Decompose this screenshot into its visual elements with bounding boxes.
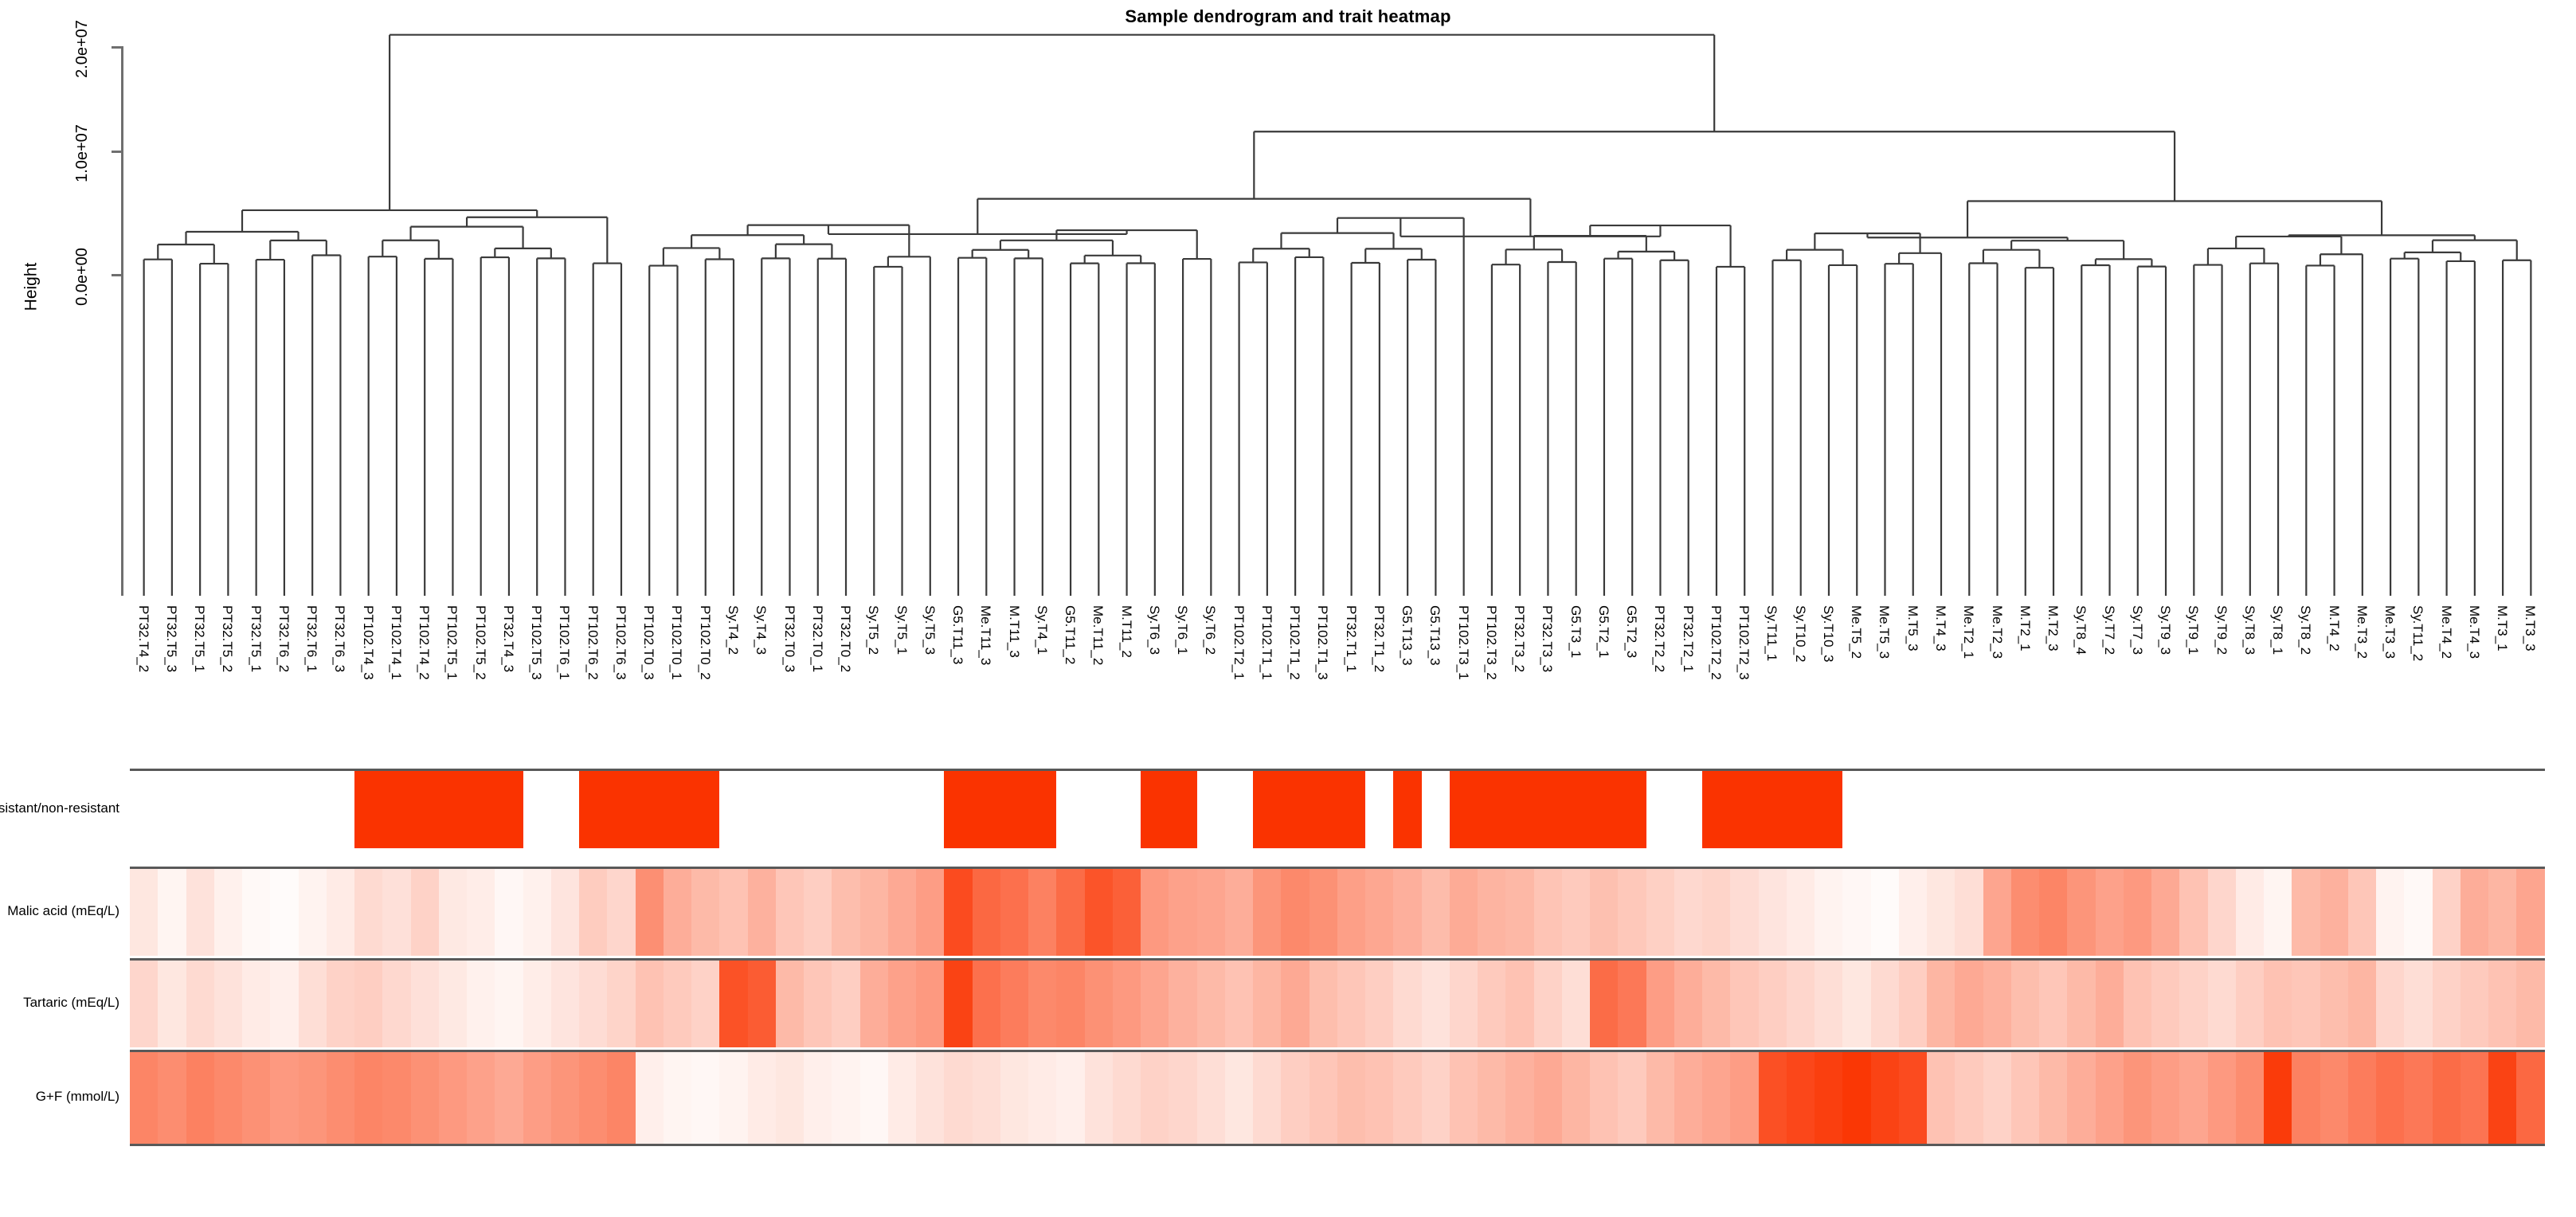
heatmap-cell — [1281, 869, 1309, 956]
heatmap-cell — [354, 771, 382, 848]
sample-label-text: Me.T2_3 — [1991, 605, 2002, 765]
heatmap-cell — [1141, 771, 1169, 848]
heatmap-cell — [1478, 771, 1505, 848]
heatmap-cell — [467, 1052, 495, 1144]
sample-label: Sy.T6_3 — [1149, 605, 1160, 765]
heatmap-cell — [327, 1052, 354, 1144]
sample-label-text: PT102.T2_1 — [1233, 605, 1244, 765]
sample-label-text: PT102.T3_2 — [1486, 605, 1497, 765]
heatmap-cell — [2376, 771, 2404, 848]
heatmap-cell — [2236, 961, 2264, 1047]
heatmap-cell — [2433, 869, 2461, 956]
heatmap-cell — [804, 961, 832, 1047]
sample-label-text: M.T11_2 — [1121, 605, 1132, 765]
sample-label: PT102.T2_1 — [1233, 605, 1244, 765]
heatmap-cell — [467, 961, 495, 1047]
heatmap-cell — [916, 869, 944, 956]
heatmap-cell — [1478, 961, 1505, 1047]
sample-label: Sy.T11_1 — [1766, 605, 1777, 765]
heatmap-cell — [804, 1052, 832, 1144]
heatmap-cell — [1141, 1052, 1169, 1144]
heatmap-cell — [382, 771, 410, 848]
heatmap-cell — [664, 869, 691, 956]
heatmap-cell — [2208, 771, 2236, 848]
sample-label-text: PT32.T5_1 — [250, 605, 261, 765]
heatmap-cell — [1815, 961, 1842, 1047]
heatmap-cell — [1983, 1052, 2011, 1144]
heatmap-cell — [1871, 1052, 1899, 1144]
sample-label: G5.T2_3 — [1626, 605, 1637, 765]
heatmap-cell — [2292, 1052, 2320, 1144]
heatmap-cell — [944, 961, 972, 1047]
heatmap-cell — [2096, 771, 2124, 848]
sample-label-text: Sy.T9_2 — [2216, 605, 2227, 765]
sample-label: PT32.T0_3 — [784, 605, 795, 765]
heatmap-cell — [1759, 869, 1787, 956]
sample-label: PT102.T4_3 — [362, 605, 374, 765]
heatmap-cell — [1141, 869, 1169, 956]
heatmap-cell — [973, 1052, 1000, 1144]
heatmap-cell — [1028, 961, 1056, 1047]
heatmap-cell — [130, 1052, 158, 1144]
sample-label-text: G5.T3_1 — [1570, 605, 1581, 765]
heatmap-cell — [1674, 771, 1702, 848]
heatmap-cell — [1927, 961, 1955, 1047]
heatmap-cell — [1590, 869, 1618, 956]
heatmap-cell — [1225, 771, 1253, 848]
sample-label: PT102.T3_2 — [1486, 605, 1497, 765]
sample-label-text: G5.T11_2 — [1064, 605, 1075, 765]
sample-label-text: M.T2_1 — [2019, 605, 2030, 765]
sample-label: M.T5_3 — [1907, 605, 1918, 765]
heatmap-cell — [1899, 771, 1927, 848]
sample-label: Me.T11_3 — [980, 605, 991, 765]
heatmap-cell — [270, 961, 298, 1047]
sample-label: PT32.T0_1 — [812, 605, 823, 765]
sample-label-text: Sy.T11_1 — [1766, 605, 1777, 765]
heatmap-cell — [1253, 869, 1281, 956]
heatmap-cell — [1927, 771, 1955, 848]
sample-label-text: Me.T4_3 — [2468, 605, 2480, 765]
sample-label: G5.T11_2 — [1064, 605, 1075, 765]
sample-label-text: Sy.T6_3 — [1149, 605, 1160, 765]
heatmap-cell — [2264, 869, 2292, 956]
sample-label-text: Sy.T4_2 — [727, 605, 738, 765]
heatmap-cell — [1955, 771, 1983, 848]
heatmap-cell — [691, 961, 719, 1047]
heatmap-cell — [579, 869, 607, 956]
heatmap-cell — [1113, 869, 1141, 956]
heatmap-cell — [2151, 869, 2179, 956]
heatmap-cell — [944, 869, 972, 956]
heatmap-cell — [242, 771, 270, 848]
heatmap-cell — [495, 771, 523, 848]
sample-label-text: M.T4_2 — [2328, 605, 2339, 765]
sample-label: PT32.T5_3 — [166, 605, 177, 765]
heatmap-cell — [691, 771, 719, 848]
heatmap-cell — [1365, 1052, 1393, 1144]
heatmap-cell — [1730, 771, 1758, 848]
heatmap-cell — [1674, 961, 1702, 1047]
heatmap-cell — [2039, 1052, 2067, 1144]
sample-label-text: PT32.T3_2 — [1513, 605, 1525, 765]
heatmap-cell — [1505, 771, 1533, 848]
sample-label: Sy.T6_2 — [1204, 605, 1216, 765]
heatmap-cell — [1197, 771, 1225, 848]
heatmap-cell — [1450, 771, 1478, 848]
trait-row-label: Malic acid (mEq/L) — [0, 867, 127, 956]
sample-label-text: Me.T11_2 — [1092, 605, 1103, 765]
heatmap-cell — [523, 771, 551, 848]
sample-label: PT102.T0_2 — [699, 605, 711, 765]
sample-label-text: PT32.T2_2 — [1654, 605, 1665, 765]
sample-label: PT32.T1_1 — [1345, 605, 1357, 765]
heatmap-cell — [2320, 869, 2348, 956]
heatmap-cell — [664, 961, 691, 1047]
sample-label-text: Me.T5_3 — [1878, 605, 1889, 765]
heatmap-cell — [2236, 771, 2264, 848]
heatmap-cell — [467, 869, 495, 956]
heatmap-cell — [1085, 771, 1113, 848]
sample-label-text: G5.T11_3 — [952, 605, 963, 765]
heatmap-cell — [411, 869, 439, 956]
heatmap-cell — [327, 961, 354, 1047]
heatmap-cell — [1450, 869, 1478, 956]
heatmap-cell — [664, 771, 691, 848]
heatmap-cell — [776, 961, 804, 1047]
sample-label-text: M.T4_3 — [1935, 605, 1946, 765]
heatmap-cell — [2011, 961, 2039, 1047]
sample-label: G5.T3_1 — [1570, 605, 1581, 765]
heatmap-cell — [214, 961, 242, 1047]
sample-label: Sy.T11_2 — [2412, 605, 2423, 765]
sample-label: PT32.T4_2 — [138, 605, 149, 765]
heatmap-cell — [1337, 961, 1365, 1047]
sample-label: PT102.T5_2 — [475, 605, 486, 765]
heatmap-cell — [1422, 1052, 1450, 1144]
heatmap-cell — [1730, 1052, 1758, 1144]
sample-label: PT102.T0_1 — [671, 605, 682, 765]
heatmap-cell — [1534, 869, 1562, 956]
heatmap-cell — [2488, 771, 2516, 848]
sample-label: Sy.T8_3 — [2244, 605, 2255, 765]
heatmap-cell — [2433, 1052, 2461, 1144]
heatmap-cell — [1169, 869, 1196, 956]
sample-label-text: PT102.T0_3 — [643, 605, 654, 765]
heatmap-cell — [1646, 869, 1674, 956]
sample-label-text: PT102.T4_2 — [418, 605, 429, 765]
heatmap-cell — [2488, 869, 2516, 956]
heatmap-cell — [2461, 869, 2488, 956]
heatmap-cell — [2264, 771, 2292, 848]
heatmap-cell — [1759, 771, 1787, 848]
heatmap-cell — [299, 961, 327, 1047]
sample-label-text: PT32.T4_2 — [138, 605, 149, 765]
sample-label-text: PT32.T6_2 — [278, 605, 289, 765]
heatmap-cell — [916, 771, 944, 848]
heatmap-cell — [1590, 1052, 1618, 1144]
heatmap-cell — [2208, 961, 2236, 1047]
sample-label: G5.T13_3 — [1429, 605, 1440, 765]
heatmap-cell — [1842, 869, 1870, 956]
heatmap-cell — [1422, 771, 1450, 848]
sample-label: PT32.T6_3 — [334, 605, 345, 765]
heatmap-cell — [1674, 1052, 1702, 1144]
sample-label: PT32.T0_2 — [840, 605, 851, 765]
sample-label: PT102.T1_1 — [1261, 605, 1272, 765]
heatmap-cell — [691, 869, 719, 956]
sample-label: PT102.T2_2 — [1710, 605, 1721, 765]
heatmap-cell — [1281, 771, 1309, 848]
heatmap-cell — [2011, 1052, 2039, 1144]
heatmap-cell — [1000, 771, 1028, 848]
sample-label-text: PT102.T5_3 — [530, 605, 542, 765]
heatmap-cell — [1310, 961, 1337, 1047]
heatmap-cell — [1674, 869, 1702, 956]
heatmap-cell — [2124, 961, 2151, 1047]
sample-label: M.T3_3 — [2524, 605, 2535, 765]
heatmap-cell — [664, 1052, 691, 1144]
sample-label-text: PT102.T4_1 — [390, 605, 401, 765]
heatmap-cell — [411, 1052, 439, 1144]
heatmap-cell — [130, 771, 158, 848]
heatmap-cell — [2208, 869, 2236, 956]
sample-label: PT102.T6_1 — [558, 605, 570, 765]
heatmap-cell — [1169, 1052, 1196, 1144]
sample-label: PT32.T6_1 — [306, 605, 317, 765]
sample-label: Me.T5_2 — [1850, 605, 1862, 765]
sample-label: PT102.T2_3 — [1738, 605, 1749, 765]
sample-label-text: Sy.T11_2 — [2412, 605, 2423, 765]
sample-label-text: Sy.T4_1 — [1036, 605, 1047, 765]
sample-label: PT32.T4_3 — [503, 605, 514, 765]
heatmap-cell — [1253, 961, 1281, 1047]
sample-label-text: PT32.T0_3 — [784, 605, 795, 765]
heatmap-cell — [1899, 1052, 1927, 1144]
heatmap-cell — [1450, 961, 1478, 1047]
heatmap-cell — [1702, 961, 1730, 1047]
heatmap-cell — [1534, 961, 1562, 1047]
heatmap-cell — [2348, 869, 2376, 956]
heatmap-cell — [130, 869, 158, 956]
sample-label: Sy.T9_2 — [2216, 605, 2227, 765]
heatmap-cell — [776, 771, 804, 848]
heatmap-cell — [1141, 961, 1169, 1047]
heatmap-bottom-border — [130, 1144, 2545, 1146]
sample-label: Me.T3_2 — [2356, 605, 2367, 765]
heatmap-cell — [2011, 771, 2039, 848]
sample-label: PT32.T5_1 — [250, 605, 261, 765]
heatmap-cell — [186, 961, 214, 1047]
heatmap-cell — [2067, 961, 2095, 1047]
heatmap-cell — [551, 961, 579, 1047]
heatmap-cell — [354, 869, 382, 956]
heatmap-cell — [719, 961, 747, 1047]
heatmap-cell — [1815, 771, 1842, 848]
heatmap-cell — [382, 1052, 410, 1144]
heatmap-cell — [719, 869, 747, 956]
heatmap-cell — [1505, 1052, 1533, 1144]
heatmap-cell — [523, 869, 551, 956]
sample-label-text: PT102.T2_2 — [1710, 605, 1721, 765]
heatmap-cell — [2376, 961, 2404, 1047]
sample-label-text: Sy.T5_3 — [924, 605, 935, 765]
heatmap-cell — [748, 1052, 776, 1144]
heatmap-cell — [2516, 771, 2544, 848]
sample-label-text: M.T3_1 — [2496, 605, 2507, 765]
sample-label-text: Sy.T4_3 — [755, 605, 766, 765]
trait-heatmap — [130, 769, 2545, 1144]
sample-label-text: PT32.T0_2 — [840, 605, 851, 765]
heatmap-cell — [2179, 869, 2207, 956]
trait-row-label: resistant/non-resistant — [0, 769, 127, 848]
heatmap-cell — [1113, 771, 1141, 848]
sample-label-text: M.T5_3 — [1907, 605, 1918, 765]
heatmap-cell — [2151, 961, 2179, 1047]
heatmap-cell — [1337, 869, 1365, 956]
heatmap-cell — [2516, 961, 2544, 1047]
heatmap-cell — [1393, 961, 1421, 1047]
heatmap-cell — [776, 1052, 804, 1144]
heatmap-cell — [2264, 961, 2292, 1047]
heatmap-cell — [2236, 869, 2264, 956]
heatmap-cell — [1056, 1052, 1084, 1144]
heatmap-cell — [1478, 869, 1505, 956]
trait-row-label: Tartaric (mEq/L) — [0, 958, 127, 1047]
sample-label: Me.T2_3 — [1991, 605, 2002, 765]
heatmap-cell — [1590, 771, 1618, 848]
heatmap-cell — [551, 771, 579, 848]
heatmap-cell — [382, 869, 410, 956]
sample-label: PT32.T5_1 — [194, 605, 205, 765]
heatmap-cell — [495, 961, 523, 1047]
sample-label: PT32.T6_2 — [278, 605, 289, 765]
heatmap-cell — [1337, 771, 1365, 848]
sample-label-text: PT32.T4_3 — [503, 605, 514, 765]
sample-label-text: PT32.T6_3 — [334, 605, 345, 765]
sample-label-text: Me.T3_2 — [2356, 605, 2367, 765]
sample-label: PT102.T5_3 — [530, 605, 542, 765]
heatmap-cell — [551, 869, 579, 956]
heatmap-cell — [888, 869, 916, 956]
heatmap-cell — [158, 1052, 186, 1144]
heatmap-cell — [2320, 771, 2348, 848]
sample-label: PT32.T2_2 — [1654, 605, 1665, 765]
sample-label-text: Me.T2_1 — [1963, 605, 1974, 765]
sample-label: Sy.T5_1 — [896, 605, 907, 765]
heatmap-cell — [1899, 869, 1927, 956]
trait-row-labels: resistant/non-resistantMalic acid (mEq/L… — [0, 769, 127, 1144]
heatmap-cell — [636, 961, 664, 1047]
heatmap-cell — [1505, 869, 1533, 956]
sample-label: Sy.T7_2 — [2104, 605, 2115, 765]
sample-label: PT32.T5_2 — [221, 605, 233, 765]
sample-label: PT102.T5_1 — [446, 605, 457, 765]
heatmap-cell — [2404, 961, 2432, 1047]
heatmap-cell — [2151, 771, 2179, 848]
heatmap-cell — [1169, 961, 1196, 1047]
heatmap-cell — [2461, 771, 2488, 848]
heatmap-cell — [1169, 771, 1196, 848]
sample-label-text: G5.T2_1 — [1598, 605, 1609, 765]
heatmap-cell — [214, 1052, 242, 1144]
sample-label: M.T4_2 — [2328, 605, 2339, 765]
heatmap-cell — [2179, 771, 2207, 848]
heatmap-cell — [860, 771, 888, 848]
heatmap-cell — [888, 771, 916, 848]
heatmap-cell — [944, 1052, 972, 1144]
heatmap-cell — [1983, 869, 2011, 956]
heatmap-cell — [888, 961, 916, 1047]
sample-label-text: Sy.T8_2 — [2300, 605, 2311, 765]
heatmap-cell — [467, 771, 495, 848]
heatmap-cell — [1927, 869, 1955, 956]
heatmap-cell — [1450, 1052, 1478, 1144]
heatmap-cell — [2124, 771, 2151, 848]
sample-label: PT32.T1_2 — [1373, 605, 1384, 765]
heatmap-cell — [2067, 771, 2095, 848]
heatmap-cell — [1310, 771, 1337, 848]
heatmap-cell — [1871, 961, 1899, 1047]
heatmap-cell — [1787, 771, 1815, 848]
sample-label-text: Me.T11_3 — [980, 605, 991, 765]
heatmap-cell — [1983, 961, 2011, 1047]
sample-label: G5.T11_3 — [952, 605, 963, 765]
heatmap-cell — [523, 1052, 551, 1144]
heatmap-cell — [1478, 1052, 1505, 1144]
heatmap-cell — [327, 869, 354, 956]
heatmap-cell — [832, 961, 859, 1047]
heatmap-cell — [1955, 869, 1983, 956]
sample-label-text: PT102.T0_2 — [699, 605, 711, 765]
heatmap-cell — [1730, 961, 1758, 1047]
sample-label-text: PT102.T6_3 — [615, 605, 626, 765]
heatmap-cell — [973, 869, 1000, 956]
heatmap-cell — [2348, 961, 2376, 1047]
heatmap-cell — [1337, 1052, 1365, 1144]
sample-label-text: PT102.T1_2 — [1289, 605, 1300, 765]
sample-label: Sy.T8_2 — [2300, 605, 2311, 765]
heatmap-cell — [1056, 961, 1084, 1047]
heatmap-cell — [1646, 1052, 1674, 1144]
heatmap-cell — [1815, 869, 1842, 956]
heatmap-cell — [270, 1052, 298, 1144]
heatmap-cell — [411, 771, 439, 848]
sample-label-text: PT102.T4_3 — [362, 605, 374, 765]
heatmap-cell — [186, 771, 214, 848]
dendrogram — [0, 0, 2576, 613]
heatmap-cell — [2461, 1052, 2488, 1144]
sample-label-text: Sy.T5_2 — [867, 605, 879, 765]
heatmap-cell — [2039, 869, 2067, 956]
heatmap-cell — [1871, 869, 1899, 956]
heatmap-cell — [1590, 961, 1618, 1047]
heatmap-cell — [242, 869, 270, 956]
heatmap-cell — [2208, 1052, 2236, 1144]
heatmap-cell — [1056, 869, 1084, 956]
sample-label: Sy.T5_3 — [924, 605, 935, 765]
heatmap-cell — [1310, 869, 1337, 956]
sample-label-text: PT102.T0_1 — [671, 605, 682, 765]
sample-label: Me.T3_3 — [2384, 605, 2395, 765]
sample-label-text: Sy.T6_2 — [1204, 605, 1216, 765]
heatmap-cell — [719, 1052, 747, 1144]
heatmap-cell — [636, 771, 664, 848]
trait-row-label: G+F (mmol/L) — [0, 1050, 127, 1144]
heatmap-cell — [607, 869, 635, 956]
heatmap-cell — [242, 961, 270, 1047]
sample-label: Sy.T5_2 — [867, 605, 879, 765]
